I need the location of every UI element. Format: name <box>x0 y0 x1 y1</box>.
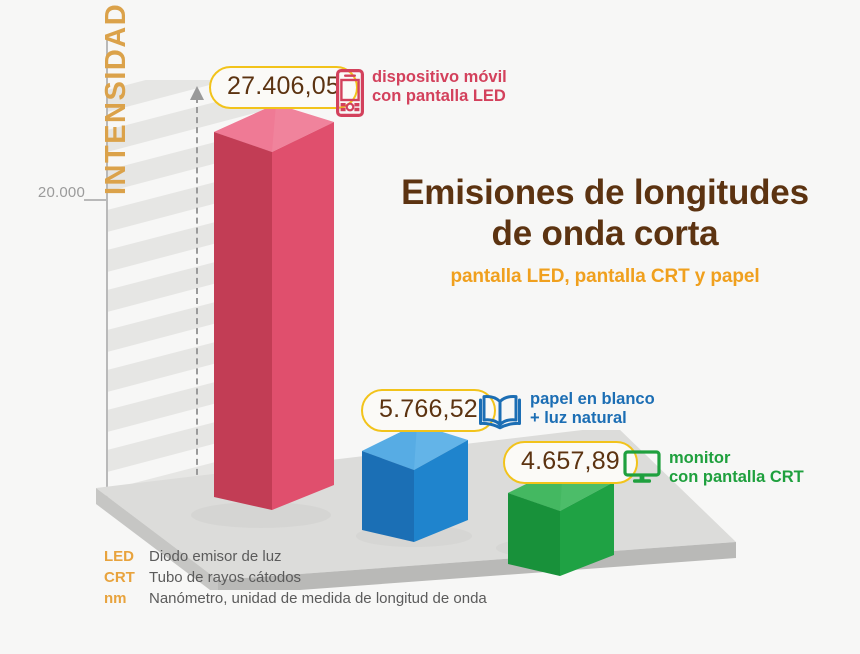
legend-label-paper-line1: papel en blanco <box>530 390 655 408</box>
footnote-key: LED <box>104 548 149 565</box>
mobile-phone-icon <box>336 69 364 122</box>
infographic-chart: 20.000 INTENSIDAD <box>0 0 860 654</box>
legend-label-crt-line2: con pantalla CRT <box>669 468 804 486</box>
footnote-text: Diodo emisor de luz <box>149 548 282 565</box>
footnote-row: LED Diodo emisor de luz <box>104 548 487 569</box>
chart-subtitle: pantalla LED, pantalla CRT y papel <box>370 266 840 288</box>
dashed-line <box>196 97 198 495</box>
height-measure-arrow <box>190 86 204 496</box>
y-axis-title: INTENSIDAD <box>100 0 133 195</box>
footnote-key: CRT <box>104 569 149 586</box>
legend-item-crt[interactable]: monitor con pantalla CRT <box>623 449 804 489</box>
legend-label-paper-line2: + luz natural <box>530 409 627 427</box>
legend-label-led-line1: dispositivo móvil <box>372 68 507 86</box>
bar-paper[interactable] <box>362 424 468 542</box>
legend-item-paper[interactable]: papel en blanco + luz natural <box>478 390 655 436</box>
y-axis-tick-label: 20.000 <box>25 184 85 201</box>
footnote-row: nm Nanómetro, unidad de medida de longit… <box>104 590 487 611</box>
bar-led[interactable] <box>214 104 334 510</box>
chart-title-block: Emisiones de longitudes de onda corta pa… <box>370 172 840 288</box>
monitor-icon <box>623 450 661 489</box>
footnote-key: nm <box>104 590 149 607</box>
legend-item-led[interactable]: dispositivo móvil con pantalla LED <box>336 68 507 122</box>
open-book-icon <box>478 391 522 436</box>
legend-label-led-line2: con pantalla LED <box>372 87 506 105</box>
footnote-row: CRT Tubo de rayos cátodos <box>104 569 487 590</box>
chart-title-line1: Emisiones de longitudes <box>401 173 809 212</box>
footnote-text: Tubo de rayos cátodos <box>149 569 301 586</box>
value-callout-crt: 4.657,89 <box>503 441 638 484</box>
footnote-text: Nanómetro, unidad de medida de longitud … <box>149 590 487 607</box>
footnote-list: LED Diodo emisor de luz CRT Tubo de rayo… <box>104 548 487 611</box>
chart-title-line2: de onda corta <box>492 214 719 253</box>
y-axis-tick-mark <box>84 199 108 201</box>
value-callout-paper: 5.766,52 <box>361 389 496 432</box>
legend-label-crt-line1: monitor <box>669 449 730 467</box>
